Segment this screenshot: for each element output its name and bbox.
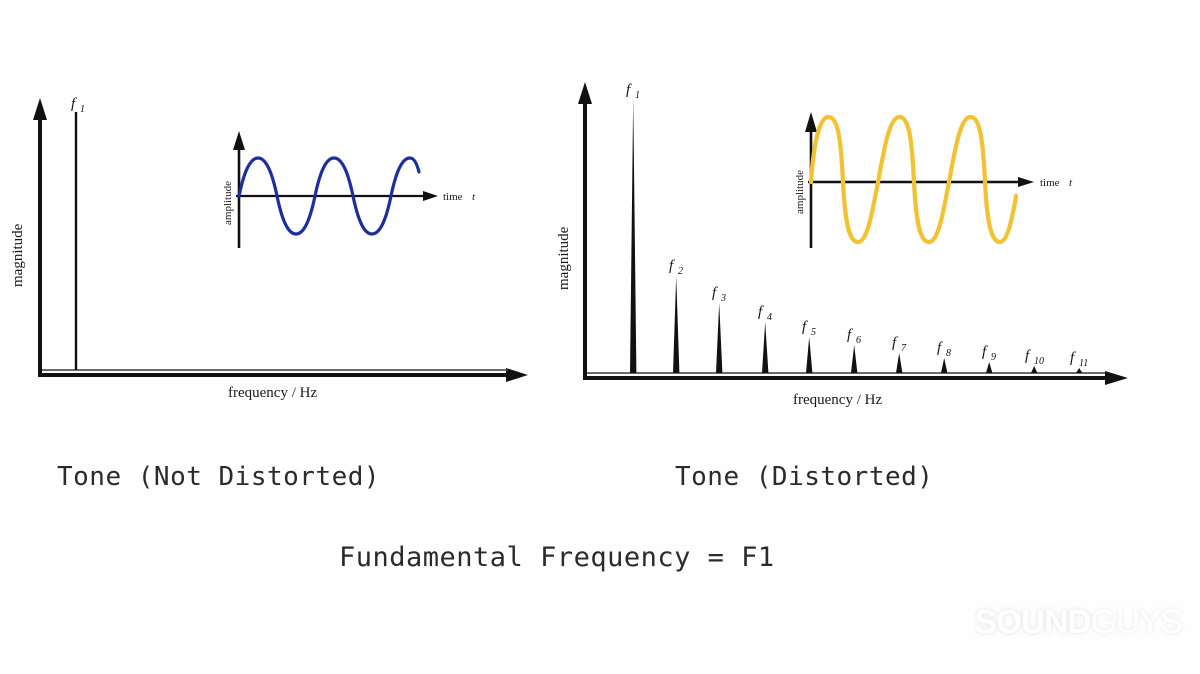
left-inset-y-axis-label: amplitude xyxy=(222,181,234,225)
svg-text:7: 7 xyxy=(901,343,907,354)
svg-text:f: f xyxy=(1070,350,1076,366)
right-y-axis xyxy=(578,82,592,378)
svg-text:f: f xyxy=(1025,348,1031,364)
left-inset-waveform: amplitude time t xyxy=(222,131,476,248)
right-y-axis-label: magnitude xyxy=(556,226,572,290)
right-inset-y-axis-label: amplitude xyxy=(794,170,806,214)
right-peak-f2 xyxy=(673,276,679,373)
right-peak-label-f7: f 7 xyxy=(892,335,907,354)
svg-text:11: 11 xyxy=(1079,358,1088,369)
right-peak-label-f11: f 11 xyxy=(1070,350,1088,369)
right-peak-label-f2: f 2 xyxy=(669,258,683,277)
right-inset-x-axis-label-italic: t xyxy=(1069,177,1073,189)
chart-right-distorted: f 1 f 2 f 3 f 4 f 5 xyxy=(556,82,1128,408)
svg-text:8: 8 xyxy=(946,348,951,359)
svg-text:6: 6 xyxy=(856,335,861,346)
svg-text:f: f xyxy=(847,327,853,343)
right-peak-f3 xyxy=(716,303,722,373)
left-inset-x-axis-label: time xyxy=(443,191,463,203)
svg-text:3: 3 xyxy=(720,293,726,304)
right-peak-label-f6: f 6 xyxy=(847,327,861,346)
right-peak-label-f8: f 8 xyxy=(937,340,951,359)
caption-right-distorted: Tone (Distorted) xyxy=(675,462,933,492)
left-y-axis-label: magnitude xyxy=(10,223,26,287)
svg-text:f: f xyxy=(802,319,808,335)
right-inset-waveform: amplitude time t xyxy=(794,112,1073,248)
right-peak-f6 xyxy=(851,345,857,373)
right-peak-label-f4: f 4 xyxy=(758,304,772,323)
right-peak-f5 xyxy=(806,337,812,373)
right-peak-f10 xyxy=(1031,366,1037,373)
right-peak-label-f1: f 1 xyxy=(626,82,640,101)
caption-left-not-distorted: Tone (Not Distorted) xyxy=(57,462,380,492)
right-peak-labels: f 1 f 2 f 3 f 4 f 5 xyxy=(626,82,1088,369)
svg-text:f: f xyxy=(892,335,898,351)
svg-text:10: 10 xyxy=(1034,356,1044,367)
svg-text:f: f xyxy=(937,340,943,356)
svg-text:f: f xyxy=(669,258,675,274)
svg-text:9: 9 xyxy=(991,352,996,363)
svg-text:4: 4 xyxy=(767,312,772,323)
svg-text:2: 2 xyxy=(678,266,683,277)
right-peak-f9 xyxy=(986,362,992,373)
right-peak-f7 xyxy=(896,353,902,373)
right-peak-label-f3: f 3 xyxy=(712,285,726,304)
chart-left-not-distorted: f 1 magnitude frequency / Hz xyxy=(10,96,528,401)
left-peak-label-f1-text: f xyxy=(71,96,77,112)
soundguys-watermark: SOUNDGUYS xyxy=(975,605,1182,638)
caption-fundamental-frequency: Fundamental Frequency = F1 xyxy=(339,542,775,573)
svg-text:f: f xyxy=(626,82,632,98)
right-peaks-group xyxy=(630,99,1082,373)
left-inset-x-axis xyxy=(236,191,438,201)
svg-text:5: 5 xyxy=(811,327,816,338)
left-x-axis-label: frequency / Hz xyxy=(228,385,317,401)
right-x-axis-label: frequency / Hz xyxy=(793,392,882,408)
diagram-canvas: f 1 magnitude frequency / Hz xyxy=(0,0,1200,674)
watermark-bold-text: SOUND xyxy=(975,603,1091,640)
right-peak-f8 xyxy=(941,358,947,373)
svg-text:f: f xyxy=(758,304,764,320)
left-y-axis xyxy=(33,98,47,375)
left-peak-label-f1-sub: 1 xyxy=(80,104,85,115)
left-peak-label-f1: f 1 xyxy=(71,96,85,115)
right-peak-f1 xyxy=(630,99,636,373)
left-inset-x-axis-label-italic: t xyxy=(472,191,476,203)
watermark-light-text: GUYS xyxy=(1091,603,1182,640)
svg-text:f: f xyxy=(982,344,988,360)
right-peak-label-f5: f 5 xyxy=(802,319,816,338)
right-peak-label-f10: f 10 xyxy=(1025,348,1044,367)
right-peak-f4 xyxy=(762,322,768,373)
svg-text:f: f xyxy=(712,285,718,301)
right-inset-distorted-path xyxy=(811,117,1016,242)
svg-text:1: 1 xyxy=(635,90,640,101)
right-peak-label-f9: f 9 xyxy=(982,344,996,363)
right-inset-x-axis-label: time xyxy=(1040,177,1060,189)
